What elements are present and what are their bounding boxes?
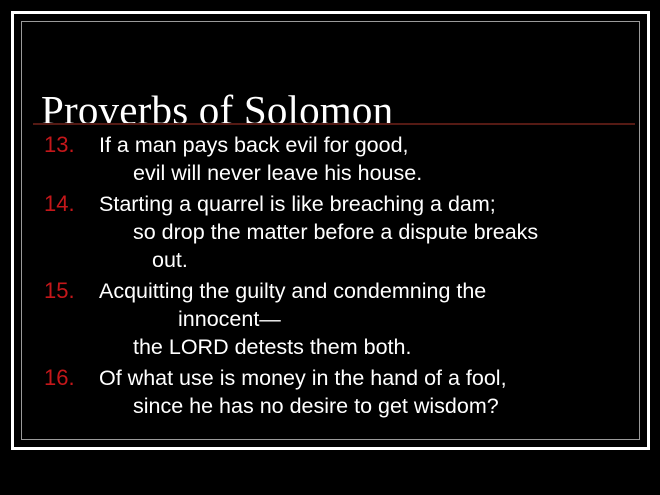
list-item-line: innocent— <box>0 305 660 333</box>
list-item-line: out. <box>0 246 660 274</box>
list-item: 14.Starting a quarrel is like breaching … <box>0 190 660 274</box>
page-title: Proverbs of Solomon <box>41 89 393 132</box>
list-item-line: since he has no desire to get wisdom? <box>0 392 660 420</box>
list-item-line: Acquitting the guilty and condemning the <box>0 277 660 305</box>
list-item: 16.Of what use is money in the hand of a… <box>0 364 660 420</box>
list-item-text: Acquitting the guilty and condemning the… <box>0 277 660 361</box>
list-item-number: 13. <box>44 131 75 159</box>
list-item-number: 15. <box>44 277 75 305</box>
proverbs-list: 13.If a man pays back evil for good,evil… <box>0 131 660 420</box>
list-item-number: 14. <box>44 190 75 218</box>
list-item-number: 16. <box>44 364 75 392</box>
slide: Proverbs of Solomon 13.If a man pays bac… <box>0 0 660 495</box>
list-item-text: Starting a quarrel is like breaching a d… <box>0 190 660 274</box>
list-item-text: If a man pays back evil for good,evil wi… <box>0 131 660 187</box>
list-item-line: If a man pays back evil for good, <box>0 131 660 159</box>
list-item-line: evil will never leave his house. <box>0 159 660 187</box>
list-item-line: so drop the matter before a dispute brea… <box>0 218 660 246</box>
list-item-line: Of what use is money in the hand of a fo… <box>0 364 660 392</box>
list-item: 15.Acquitting the guilty and condemning … <box>0 277 660 361</box>
title-divider <box>33 123 635 125</box>
list-item-line: the LORD detests them both. <box>0 333 660 361</box>
list-item-text: Of what use is money in the hand of a fo… <box>0 364 660 420</box>
list-item: 13.If a man pays back evil for good,evil… <box>0 131 660 187</box>
list-item-line: Starting a quarrel is like breaching a d… <box>0 190 660 218</box>
